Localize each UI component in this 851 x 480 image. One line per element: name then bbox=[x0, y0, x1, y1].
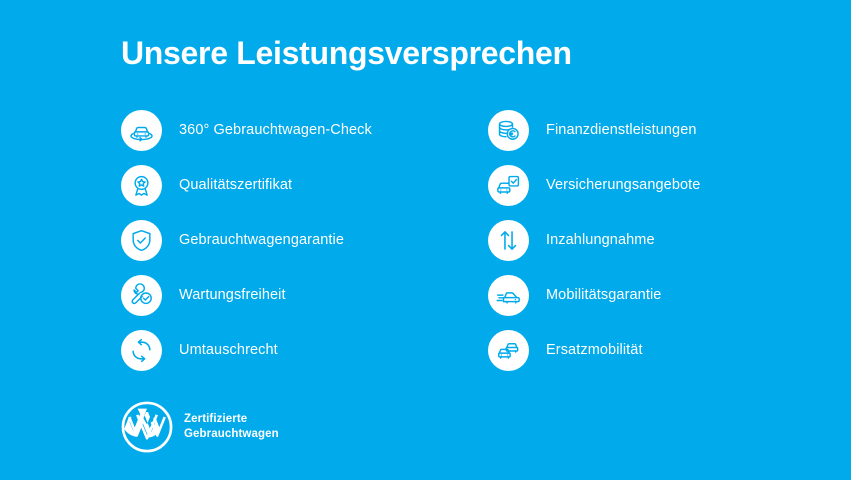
page-title: Unsere Leistungsversprechen bbox=[121, 33, 572, 73]
benefit-item-versicherungsangebote: Versicherungsangebote bbox=[488, 163, 828, 207]
brand-text-line1: Zertifizierte bbox=[184, 412, 279, 427]
benefit-item-umtauschrecht: Umtauschrecht bbox=[121, 328, 461, 372]
slide-canvas: Unsere Leistungsversprechen 360° Gebrauc… bbox=[0, 0, 851, 480]
van-speed-icon bbox=[488, 275, 529, 316]
benefit-item-finanzdienstleistungen: Finanzdienstleistungen bbox=[488, 108, 828, 152]
benefit-item-qualitaetszertifikat: Qualitätszertifikat bbox=[121, 163, 461, 207]
car-360-check-icon bbox=[121, 110, 162, 151]
benefits-column-left: 360° Gebrauchtwagen-Check Qualitätszerti… bbox=[121, 108, 461, 383]
benefit-label: Gebrauchtwagengarantie bbox=[179, 231, 344, 249]
benefit-item-wartungsfreiheit: Wartungsfreiheit bbox=[121, 273, 461, 317]
benefit-item-inzahlungnahme: Inzahlungnahme bbox=[488, 218, 828, 262]
exchange-arrows-icon bbox=[121, 330, 162, 371]
brand-text-line2: Gebrauchtwagen bbox=[184, 427, 279, 442]
benefit-item-360-gebrauchtwagen-check: 360° Gebrauchtwagen-Check bbox=[121, 108, 461, 152]
arrows-up-down-icon bbox=[488, 220, 529, 261]
benefit-item-mobilitaetsgarantie: Mobilitätsgarantie bbox=[488, 273, 828, 317]
benefit-item-gebrauchtwagengarantie: Gebrauchtwagengarantie bbox=[121, 218, 461, 262]
two-cars-icon bbox=[488, 330, 529, 371]
coins-euro-icon bbox=[488, 110, 529, 151]
brand-lockup: Zertifizierte Gebrauchtwagen bbox=[120, 400, 279, 454]
benefit-label: Inzahlungnahme bbox=[546, 231, 655, 249]
benefit-item-ersatzmobilitaet: Ersatzmobilität bbox=[488, 328, 828, 372]
benefit-label: 360° Gebrauchtwagen-Check bbox=[179, 121, 372, 139]
car-document-check-icon bbox=[488, 165, 529, 206]
benefit-label: Qualitätszertifikat bbox=[179, 176, 292, 194]
benefit-label: Mobilitätsgarantie bbox=[546, 286, 661, 304]
benefit-label: Wartungsfreiheit bbox=[179, 286, 286, 304]
shield-check-icon bbox=[121, 220, 162, 261]
wrench-check-icon bbox=[121, 275, 162, 316]
brand-text: Zertifizierte Gebrauchtwagen bbox=[184, 412, 279, 442]
benefits-column-right: Finanzdienstleistungen Versicherungsange… bbox=[488, 108, 828, 383]
benefit-label: Finanzdienstleistungen bbox=[546, 121, 697, 139]
benefit-label: Umtauschrecht bbox=[179, 341, 278, 359]
benefit-label: Ersatzmobilität bbox=[546, 341, 643, 359]
benefit-label: Versicherungsangebote bbox=[546, 176, 700, 194]
award-rosette-icon bbox=[121, 165, 162, 206]
volkswagen-logo-icon bbox=[120, 400, 174, 454]
